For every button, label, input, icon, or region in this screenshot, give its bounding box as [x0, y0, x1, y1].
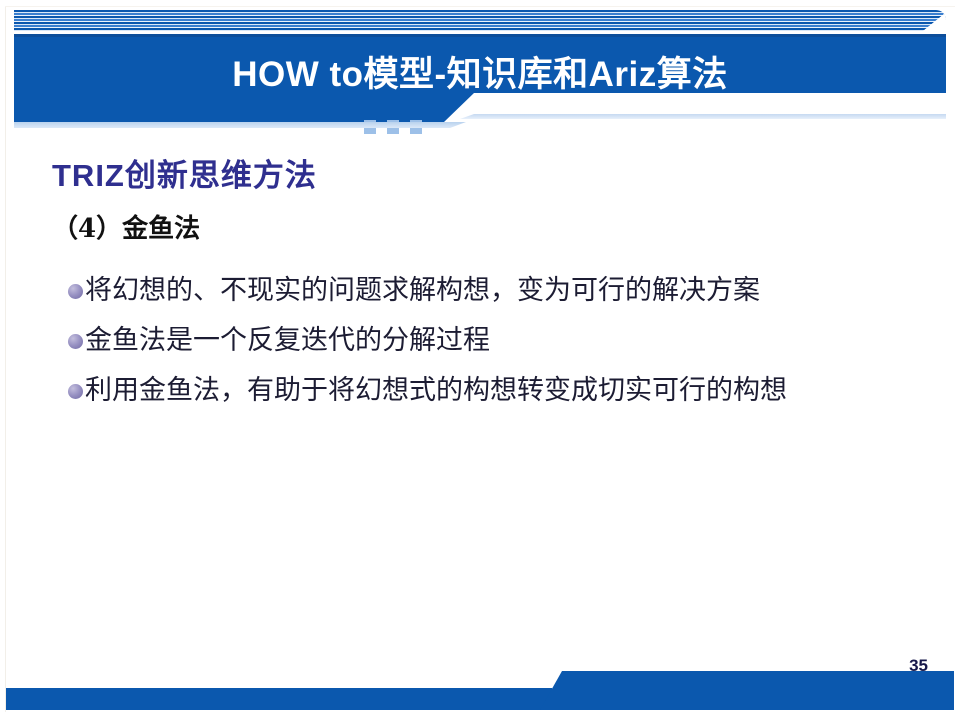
page-frame-top-line — [5, 6, 955, 7]
bullet-sphere-icon — [68, 284, 83, 299]
presentation-slide: HOW to模型-知识库和Ariz算法 TRIZ创新思维方法 （4）金鱼法 将幻… — [0, 0, 960, 720]
list-item: 金鱼法是一个反复迭代的分解过程 — [68, 322, 948, 361]
section-heading: （4）金鱼法 — [52, 208, 200, 245]
bullet-list: 将幻想的、不现实的问题求解构想，变为可行的解决方案 金鱼法是一个反复迭代的分解过… — [68, 272, 948, 422]
header-underline-right — [460, 114, 946, 119]
bullet-text: 将幻想的、不现实的问题求解构想，变为可行的解决方案 — [85, 272, 760, 310]
footer-bar-right — [540, 671, 954, 710]
bullet-text: 金鱼法是一个反复迭代的分解过程 — [85, 322, 490, 360]
header-underline-left — [14, 122, 466, 128]
slide-title: HOW to模型-知识库和Ariz算法 — [14, 46, 946, 97]
page-frame-left-line — [5, 6, 6, 712]
header-stripe-band — [14, 10, 946, 31]
bullet-sphere-icon — [68, 334, 83, 349]
list-item: 将幻想的、不现实的问题求解构想，变为可行的解决方案 — [68, 272, 948, 311]
header-stripe-corner — [920, 10, 946, 31]
subject-title: TRIZ创新思维方法 — [52, 150, 317, 195]
list-item: 利用金鱼法，有助于将幻想式的构想转变成切实可行的构想 — [68, 372, 948, 411]
bullet-text: 利用金鱼法，有助于将幻想式的构想转变成切实可行的构想 — [85, 372, 787, 410]
header-bar-top-edge — [14, 34, 946, 37]
slide-header: HOW to模型-知识库和Ariz算法 — [14, 10, 946, 128]
footer-bar-left — [6, 688, 552, 710]
bullet-sphere-icon — [68, 384, 83, 399]
page-number: 35 — [909, 656, 928, 676]
